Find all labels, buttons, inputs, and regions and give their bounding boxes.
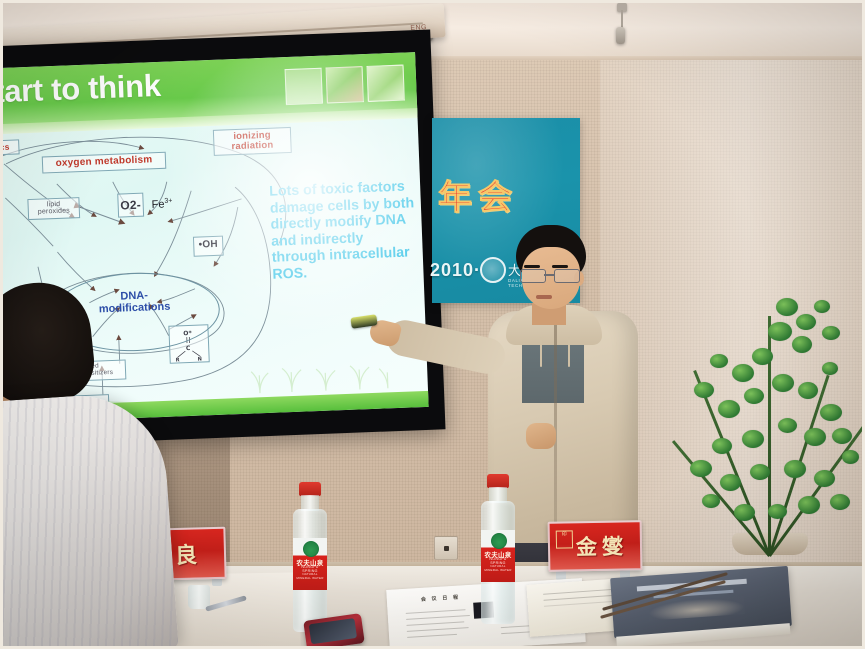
bottle-sub-en: NATURAL MINERAL WATER xyxy=(483,564,513,572)
plant-leaf xyxy=(732,364,754,382)
diagram-symbol-iron: Fe3+ xyxy=(151,198,172,211)
track-light-right xyxy=(616,27,625,44)
presenter-eyebrow-right xyxy=(552,265,568,268)
plant-leaf xyxy=(842,450,859,464)
svg-text:R: R xyxy=(176,357,180,362)
water-bottle-right: 农夫山泉 NONGFU SPRING NATURAL MINERAL WATER xyxy=(480,474,516,624)
paper-text-line xyxy=(543,594,621,601)
paper-text-line xyxy=(407,634,457,638)
nameplate-right-text: 金燮 xyxy=(576,530,629,561)
plant-leaf xyxy=(784,460,806,478)
slide-body-text: Lots of toxic factors damage cells by bo… xyxy=(269,178,418,283)
plant-leaf xyxy=(820,404,842,421)
water-bottle-left: 农夫山泉 NONGFU SPRING NATURAL MINERAL WATER xyxy=(292,482,328,632)
bottle-sub-en: NATURAL MINERAL WATER xyxy=(295,572,325,580)
plant-leaf xyxy=(742,430,764,448)
conference-proceedings-book xyxy=(610,566,792,638)
diagram-node-dna-modifications: DNA- modifications xyxy=(75,289,194,317)
paper-text-line xyxy=(406,609,466,614)
dna-line2: modifications xyxy=(99,300,171,315)
paper-text-line xyxy=(406,621,464,626)
presenter-mouth xyxy=(536,295,552,299)
bottle-label: 农夫山泉 NONGFU SPRING NATURAL MINERAL WATER xyxy=(293,538,327,590)
glasses-bridge xyxy=(544,274,554,276)
iron-charge: 3+ xyxy=(164,198,172,205)
plant-stem-far-left xyxy=(672,440,771,557)
plant-leaf xyxy=(798,496,820,514)
plant-leaf xyxy=(822,326,840,340)
plant-leaf xyxy=(772,374,794,392)
plant-leaf xyxy=(804,428,826,446)
glasses-lens-right xyxy=(554,269,580,283)
plant-leaf xyxy=(822,362,838,375)
plant-leaf xyxy=(768,504,787,519)
plant-leaf xyxy=(752,348,773,365)
plant-leaf xyxy=(702,494,720,508)
slide-grass-decoration xyxy=(249,356,400,394)
nameplate-seal-icon: 印 xyxy=(556,530,573,548)
plant-leaf xyxy=(778,418,797,433)
presenter-resting-hand xyxy=(526,423,556,449)
presenter-eyebrow-left xyxy=(524,265,540,268)
bottle-cap xyxy=(299,482,321,496)
plant-leaf xyxy=(710,354,728,368)
bottle-label: 农夫山泉 NONGFU SPRING NATURAL MINERAL WATER xyxy=(481,530,515,582)
plant-leaf xyxy=(798,382,818,399)
outlet-socket-hole xyxy=(444,546,449,551)
plant-leaf xyxy=(814,300,830,313)
handout-paper-left-title: 会 议 日 程 xyxy=(421,594,461,603)
glasses-icon xyxy=(520,269,582,281)
svg-text:N: N xyxy=(198,357,203,363)
plant-leaf xyxy=(690,460,712,477)
plant-leaf xyxy=(744,388,764,404)
nongfu-spring-logo-icon xyxy=(491,533,507,549)
plant-leaf xyxy=(750,464,770,480)
plant-leaf xyxy=(796,314,816,330)
plant-leaf xyxy=(712,438,732,454)
mobile-phone-screen xyxy=(309,618,357,644)
track-light-right-stem xyxy=(621,10,623,28)
plant-leaf xyxy=(720,474,741,491)
diagram-box-xenobiotics: ics xyxy=(0,139,20,155)
paper-text-line xyxy=(407,627,469,632)
banner-year-number: 2010 xyxy=(430,260,474,280)
iron-element: Fe xyxy=(151,198,164,210)
paper-text-line xyxy=(406,615,470,620)
diagram-box-superoxide: O2- xyxy=(117,193,144,218)
diagram-box-hydroxyl-radical: •OH xyxy=(193,236,224,257)
svg-text:C: C xyxy=(186,345,191,352)
conference-presentation-photo: ENG start to think xyxy=(0,0,865,649)
plant-leaf xyxy=(830,494,850,510)
presenter-hood-cord-right xyxy=(568,337,570,367)
plant-leaf xyxy=(792,336,812,353)
plant-leaf xyxy=(734,504,755,521)
plant-leaf xyxy=(768,322,792,341)
presenter-hood-cord-left xyxy=(540,337,542,367)
banner-title-cn: 年会 xyxy=(438,170,518,219)
diagram-box-lipid-peroxides: lipid peroxides xyxy=(27,197,80,220)
plant-leaf xyxy=(832,428,852,444)
diagram-box-ionizing-radiation: ionizing radiation xyxy=(213,127,292,156)
potted-plant xyxy=(672,278,865,578)
nameplate-right: 印 金燮 xyxy=(548,520,643,572)
plant-leaf xyxy=(718,400,740,418)
wall-power-outlet xyxy=(434,536,458,560)
glasses-lens-left xyxy=(520,269,546,283)
plant-leaf xyxy=(694,382,714,398)
plant-leaf xyxy=(776,298,798,316)
nongfu-spring-logo-icon xyxy=(303,541,319,557)
plant-leaf xyxy=(814,470,835,487)
bottle-cap xyxy=(487,474,509,488)
